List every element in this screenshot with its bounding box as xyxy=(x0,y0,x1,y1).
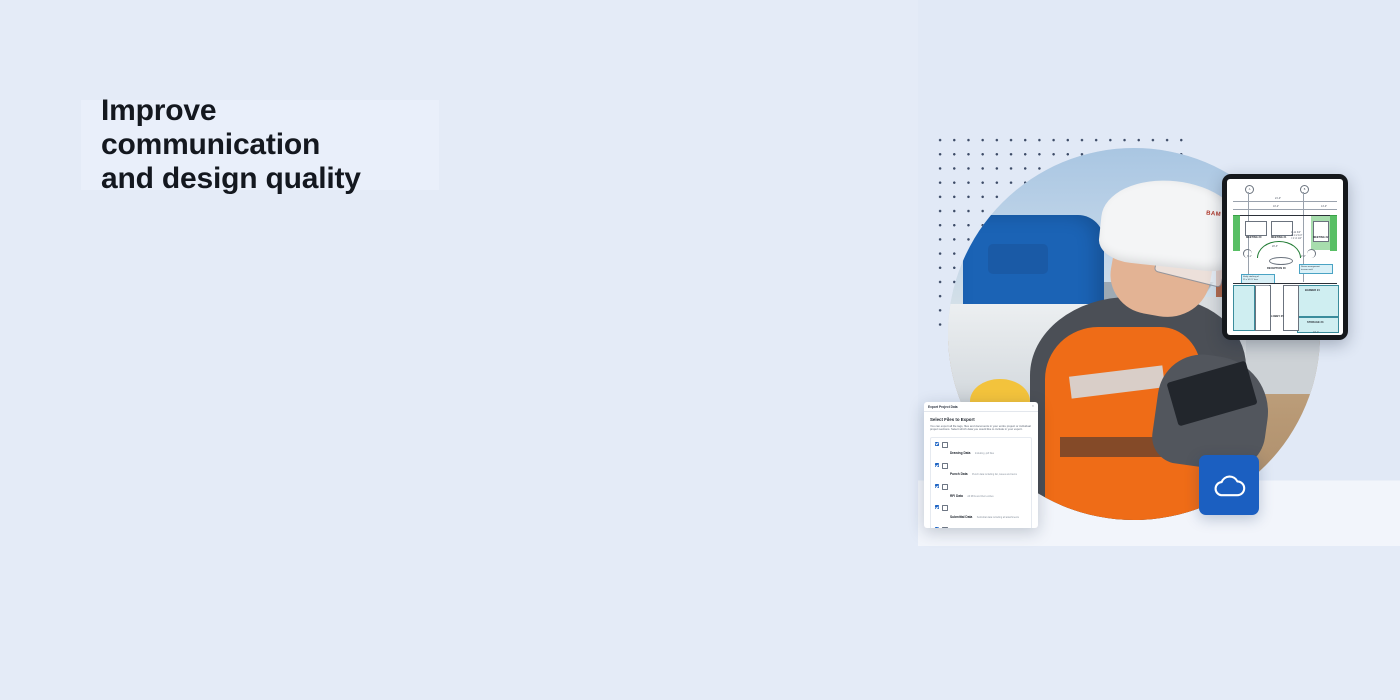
option-subtitle: Including .pdf files xyxy=(975,452,994,455)
tablet-screen: A B 21'-0" 10'-2" 14'-0" MEETING 20 MEET… xyxy=(1227,179,1343,335)
option-title: Submittal Data xyxy=(950,515,972,519)
dialog-description: You can export all file tags, files and … xyxy=(930,425,1032,432)
room-meeting-21-label: MEETING 21 xyxy=(1271,236,1286,239)
room-meeting-20-label: MEETING 20 xyxy=(1246,236,1261,239)
room-meeting-20-box xyxy=(1245,221,1267,236)
list-item[interactable]: Punch Data Punch data including list, is… xyxy=(931,461,1031,482)
option-title: Drawing Data xyxy=(950,451,970,455)
dimension-top-1: 21'-0" xyxy=(1275,197,1281,200)
checkbox-punch-data[interactable] xyxy=(935,463,939,467)
tablet-device[interactable]: A B 21'-0" 10'-2" 14'-0" MEETING 20 MEET… xyxy=(1222,174,1348,340)
submittal-icon xyxy=(942,505,948,511)
punch-icon xyxy=(942,463,948,469)
dimension-top-3: 14'-0" xyxy=(1321,205,1327,208)
close-icon[interactable]: × xyxy=(1032,405,1034,409)
page-title: Improve communication and design quality xyxy=(101,94,439,196)
wall-divider-lower xyxy=(1233,283,1337,284)
rfi-icon xyxy=(942,484,948,490)
export-options-list: Drawing Data Including .pdf files Punch … xyxy=(930,437,1032,528)
helmet-logo: BAM xyxy=(1205,211,1220,219)
option-subtitle: All RFIs and their entries xyxy=(967,495,993,498)
dialog-body: Select Files to Export You can export al… xyxy=(924,412,1038,528)
reception-desk xyxy=(1269,257,1293,265)
green-wall-left xyxy=(1233,215,1240,251)
callout-right: Revise arrangement to wear vault xyxy=(1299,264,1333,274)
stair-core-right xyxy=(1283,285,1299,331)
room-storage-label: STORAGE 23 xyxy=(1307,321,1323,324)
checkbox-drawing-data[interactable] xyxy=(935,442,939,446)
export-project-data-dialog[interactable]: Export Project Data × Select Files to Ex… xyxy=(924,402,1038,528)
dialog-titlebar: Export Project Data × xyxy=(924,402,1038,412)
option-subtitle: Punch data including list, issues and it… xyxy=(972,473,1017,476)
dimension-line-top-2 xyxy=(1233,209,1337,210)
room-reception-label: RECEPTION 00 xyxy=(1267,267,1286,270)
dialog-heading: Select Files to Export xyxy=(930,417,1032,422)
grid-tag-a: A xyxy=(1245,185,1254,194)
drawing-icon xyxy=(942,442,948,448)
room-barber-label: BARBER 24 xyxy=(1305,289,1320,292)
checkbox-submittal-data[interactable] xyxy=(935,505,939,509)
arch-dim-right: 2'-6" xyxy=(1301,255,1306,258)
cloud-badge[interactable] xyxy=(1199,455,1259,515)
room-meeting-21-box xyxy=(1271,221,1293,236)
dialog-title: Export Project Data xyxy=(928,405,958,409)
dimension-top-2: 10'-2" xyxy=(1273,205,1279,208)
room-lobby-label: LOBBY 25 xyxy=(1271,315,1284,318)
dimension-line-top xyxy=(1233,201,1337,202)
door-swing-right xyxy=(1307,249,1316,258)
green-wall-right xyxy=(1330,215,1337,251)
headline-block: Improve communication and design quality xyxy=(81,100,439,190)
checkbox-rfi-data[interactable] xyxy=(935,484,939,488)
room-meeting-22-label: MEETING 22 xyxy=(1313,236,1328,239)
core-line-1 xyxy=(1255,285,1269,286)
option-title: RFI Data xyxy=(950,494,963,498)
door-swing-left xyxy=(1243,249,1252,258)
floor-plan-drawing: A B 21'-0" 10'-2" 14'-0" MEETING 20 MEET… xyxy=(1227,179,1343,335)
list-item[interactable]: User Data User data, roles and permissio… xyxy=(931,524,1031,528)
list-item[interactable]: RFI Data All RFIs and their entries xyxy=(931,482,1031,503)
cloud-icon xyxy=(1212,472,1246,498)
stair-core-left xyxy=(1255,285,1271,331)
list-item[interactable]: Submittal Data Submittal data including … xyxy=(931,503,1031,524)
grid-tag-b: B xyxy=(1300,185,1309,194)
checkbox-user-data[interactable] xyxy=(935,527,939,528)
dimension-bottom: 10'-1" xyxy=(1313,331,1319,334)
user-icon xyxy=(942,527,948,528)
option-subtitle: Submittal data including all attachments xyxy=(977,516,1019,519)
list-item[interactable]: Drawing Data Including .pdf files xyxy=(931,440,1031,461)
arch-highlight xyxy=(1257,241,1301,258)
option-title: Punch Data xyxy=(950,472,968,476)
hatch-zone-left xyxy=(1233,285,1255,331)
arch-dimension: 20'-3" xyxy=(1272,245,1278,248)
annotation-note: 1'-11 3/4" O 1'-2 1/4" = 1'-0 1/2" xyxy=(1291,231,1302,240)
